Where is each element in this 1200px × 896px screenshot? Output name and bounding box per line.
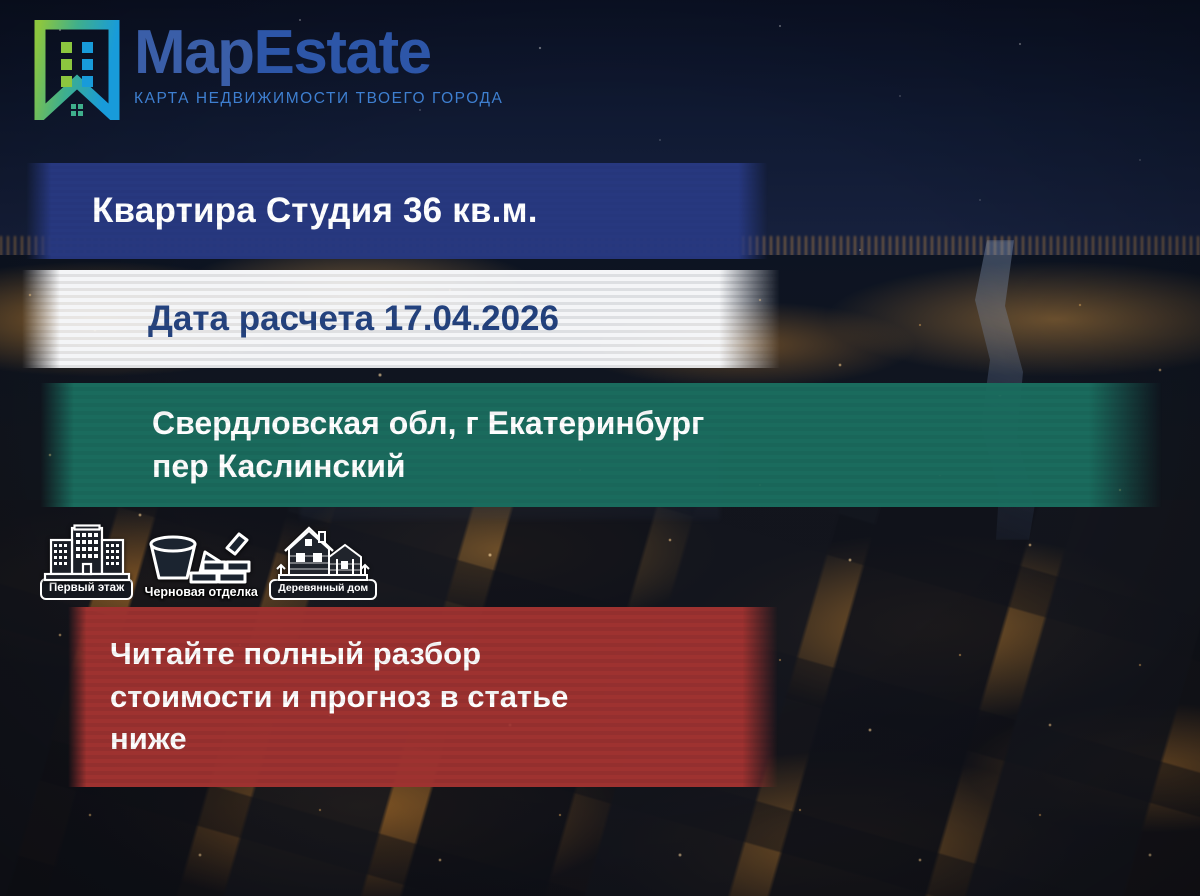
property-title-text: Квартира Студия 36 кв.м. <box>26 191 768 231</box>
address-line-1: Свердловская обл, г Екатеринбург <box>152 402 1162 445</box>
feature-badges: Первый этаж Чернова <box>40 518 370 600</box>
bookmark-building-icon <box>34 20 120 120</box>
address-line-2: пер Каслинский <box>152 445 1162 488</box>
address-band: Свердловская обл, г Екатеринбург пер Кас… <box>40 383 1162 507</box>
badge-rough-finish-label: Черновая отделка <box>145 586 258 600</box>
poster-canvas: MapEstate КАРТА НЕДВИЖИМОСТИ ТВОЕГО ГОРО… <box>0 0 1200 896</box>
apartment-building-icon <box>41 524 133 582</box>
brand-tagline: КАРТА НЕДВИЖИМОСТИ ТВОЕГО ГОРОДА <box>134 90 503 108</box>
calculation-date-band: Дата расчета 17.04.2026 <box>22 270 780 368</box>
cta-line-1: Читайте полный разбор <box>110 633 778 676</box>
property-title-band: Квартира Студия 36 кв.м. <box>26 163 768 259</box>
badge-rough-finish[interactable]: Черновая отделка <box>143 526 259 600</box>
badge-wooden-house[interactable]: Деревянный дом <box>269 523 377 600</box>
paint-bucket-trowel-icon <box>143 526 259 588</box>
cta-text: Читайте полный разбор стоимости и прогно… <box>68 633 778 761</box>
cta-line-2: стоимости и прогноз в статье <box>110 676 778 719</box>
address-text: Свердловская обл, г Екатеринбург пер Кас… <box>40 402 1162 487</box>
brand-logo[interactable]: MapEstate КАРТА НЕДВИЖИМОСТИ ТВОЕГО ГОРО… <box>34 20 503 120</box>
badge-first-floor[interactable]: Первый этаж <box>40 524 133 600</box>
calculation-date-text: Дата расчета 17.04.2026 <box>22 299 780 339</box>
brand-wordmark: MapEstate <box>134 22 503 84</box>
cta-line-3: ниже <box>110 718 778 761</box>
brand-name-part2: Estate <box>254 18 431 87</box>
cta-band[interactable]: Читайте полный разбор стоимости и прогно… <box>68 607 778 787</box>
brand-name-part1: Map <box>134 18 254 87</box>
wooden-house-icon <box>275 523 371 583</box>
